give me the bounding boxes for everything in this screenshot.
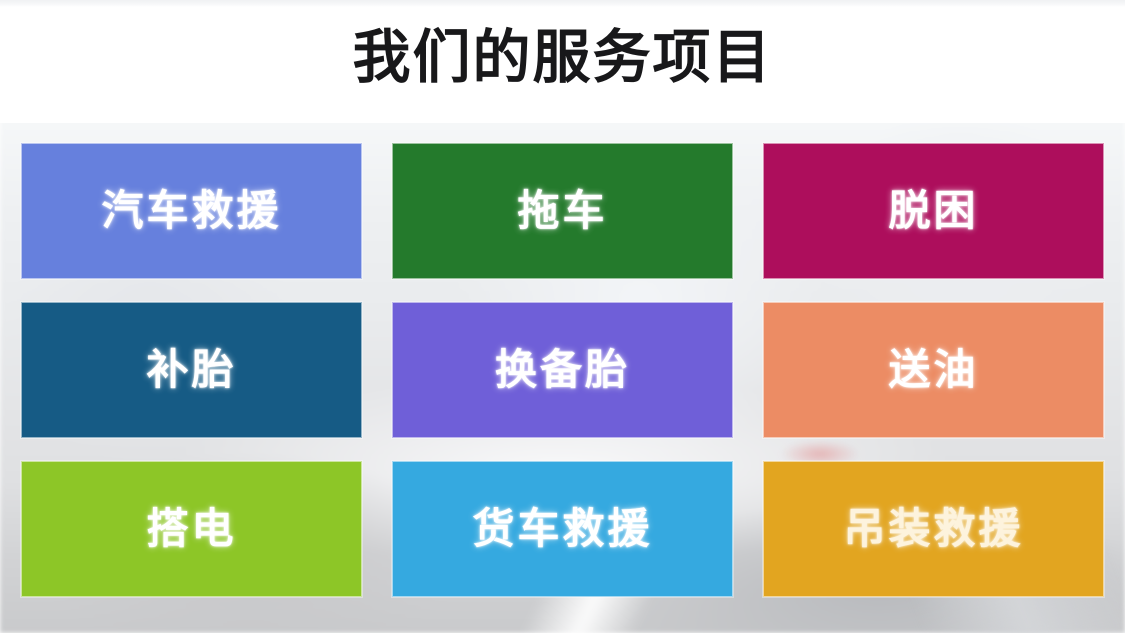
service-poster: 我们的服务项目 汽车救援拖车脱困补胎换备胎送油搭电货车救援吊装救援: [0, 0, 1125, 633]
service-tile-label: 送油: [888, 347, 978, 393]
service-tile-label: 补胎: [146, 347, 236, 393]
service-tile-roadside-assistance[interactable]: 汽车救援: [21, 143, 362, 279]
service-tile-label: 搭电: [146, 506, 236, 552]
service-tile-label: 汽车救援: [101, 188, 281, 234]
service-tile-label: 拖车: [517, 188, 607, 234]
service-tile-towing[interactable]: 拖车: [392, 143, 733, 279]
service-tile-label: 脱困: [888, 188, 978, 234]
service-tile-label: 吊装救援: [843, 506, 1023, 552]
page-title: 我们的服务项目: [0, 23, 1125, 93]
top-hairline: [0, 0, 1125, 7]
service-tile-spare-tire-change[interactable]: 换备胎: [392, 302, 733, 438]
service-tile-label: 换备胎: [495, 347, 630, 393]
service-tile-fuel-delivery[interactable]: 送油: [763, 302, 1104, 438]
service-grid: 汽车救援拖车脱困补胎换备胎送油搭电货车救援吊装救援: [21, 143, 1105, 602]
service-tile-crane-lifting-assistance[interactable]: 吊装救援: [763, 461, 1104, 597]
header-band: 我们的服务项目: [0, 0, 1125, 123]
service-tile-tire-repair[interactable]: 补胎: [21, 302, 362, 438]
service-tile-jump-start[interactable]: 搭电: [21, 461, 362, 597]
service-tile-extrication[interactable]: 脱困: [763, 143, 1104, 279]
service-tile-label: 货车救援: [472, 506, 652, 552]
service-tile-truck-assistance[interactable]: 货车救援: [392, 461, 733, 597]
